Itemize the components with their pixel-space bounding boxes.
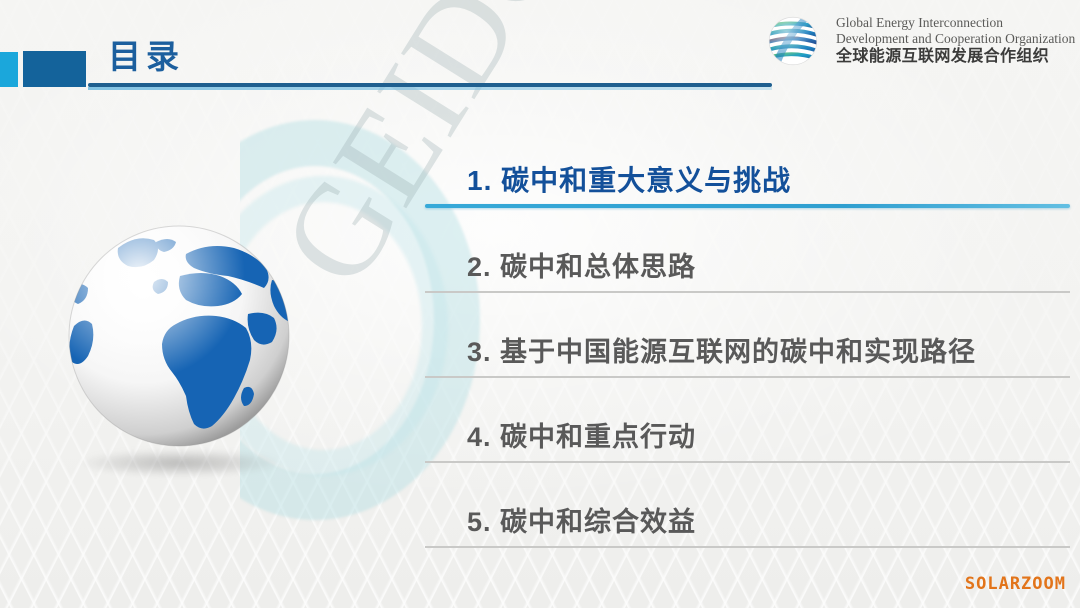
organization-logo: Global Energy Interconnection Developmen… [760,8,1075,74]
toc-item-3-underline [425,376,1070,378]
globe-drop-shadow [82,450,278,476]
toc-item-1-underline [425,204,1070,208]
logo-english-line-1: Global Energy Interconnection [836,15,1075,31]
toc-item-3-label: 3. 基于中国能源互联网的碳中和实现路径 [467,330,976,369]
toc-item-2-label: 2. 碳中和总体思路 [467,245,696,284]
toc-item-3[interactable]: 3. 基于中国能源互联网的碳中和实现路径 [425,298,1070,383]
header-divider-highlight [88,87,772,90]
toc-item-2-underline [425,291,1070,293]
logo-english-line-2: Development and Cooperation Organization [836,31,1075,47]
toc-item-5-label: 5. 碳中和综合效益 [467,500,696,539]
page-title: 目录 [108,30,184,78]
logo-chinese-name: 全球能源互联网发展合作组织 [836,48,1075,67]
logo-text-block: Global Energy Interconnection Developmen… [836,15,1075,67]
toc-item-5[interactable]: 5. 碳中和综合效益 [425,468,1070,553]
toc-item-1-label: 1. 碳中和重大意义与挑战 [467,159,791,199]
solarzoom-watermark: SOLARZOOM [965,574,1066,594]
earth-globe-illustration [58,218,303,468]
toc-item-5-underline [425,546,1070,548]
table-of-contents: 1. 碳中和重大意义与挑战 2. 碳中和总体思路 3. 基于中国能源互联网的碳中… [425,128,1070,553]
header-accent-block-blue [23,51,86,87]
toc-item-2[interactable]: 2. 碳中和总体思路 [425,213,1070,298]
toc-item-4-underline [425,461,1070,463]
header-accent-block-cyan [0,52,18,87]
geidco-globe-logo-icon [760,8,826,74]
toc-item-1[interactable]: 1. 碳中和重大意义与挑战 [425,128,1070,213]
toc-item-4-label: 4. 碳中和重点行动 [467,415,696,454]
slide-root: GEIDCO 目录 [0,0,1080,608]
earth-globe-icon [58,218,303,468]
toc-item-4[interactable]: 4. 碳中和重点行动 [425,383,1070,468]
